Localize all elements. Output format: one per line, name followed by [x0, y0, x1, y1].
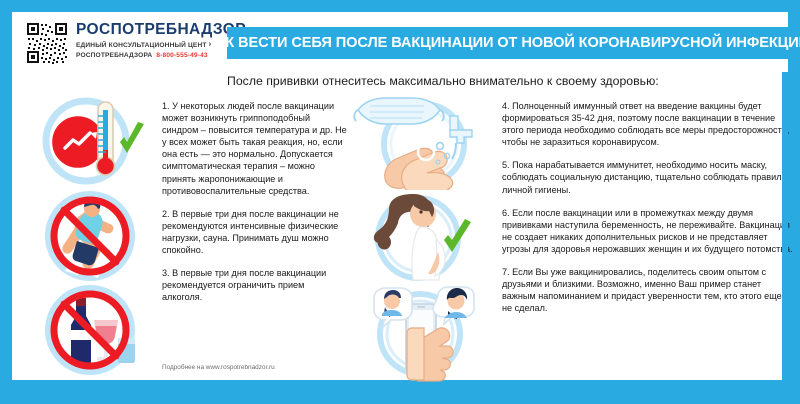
right-accent-bar: [782, 72, 788, 380]
pregnant-woman-icon: [352, 190, 492, 286]
list-item: 4. Полноценный иммунный ответ на введени…: [502, 100, 794, 148]
middle-icon-column: [352, 94, 494, 382]
no-alcohol-icon: [34, 284, 152, 379]
list-item: 3. В первые три дня после вакцинации рек…: [162, 267, 347, 303]
poster-inner-card: РОСПОТРЕБНАДЗОР ЕДИНЫЙ КОНСУЛЬТАЦИОННЫЙ …: [12, 12, 788, 380]
no-running-icon: [34, 189, 152, 284]
list-item: 1. У некоторых людей после вакцинации мо…: [162, 100, 347, 197]
share-experience-phone-icon: [352, 286, 492, 382]
brand-subtitle-line1: ЕДИНЫЙ КОНСУЛЬТАЦИОННЫЙ ЦЕНТР: [76, 42, 211, 49]
page-title: КАК ВЕСТИ СЕБЯ ПОСЛЕ ВАКЦИНАЦИИ ОТ НОВОЙ…: [206, 35, 800, 51]
poster-subtitle: После прививки отнеситесь максимально вн…: [227, 74, 659, 88]
brand-subtitle-line2-text: РОСПОТРЕБНАДЗОРА: [76, 52, 152, 59]
poster-root: РОСПОТРЕБНАДЗОР ЕДИНЫЙ КОНСУЛЬТАЦИОННЫЙ …: [0, 0, 800, 404]
thermometer-fever-icon: [34, 94, 152, 189]
list-item: 2. В первые три дня после вакцинации не …: [162, 208, 347, 256]
mask-handwash-icon: [352, 94, 492, 190]
brand-block: РОСПОТРЕБНАДЗОР ЕДИНЫЙ КОНСУЛЬТАЦИОННЫЙ …: [26, 20, 226, 68]
right-text-column: 4. Полноценный иммунный ответ на введени…: [502, 100, 794, 325]
hotline-phone-number[interactable]: 8-800-555-49-43: [156, 52, 207, 59]
footnote-website[interactable]: Подробнее на www.rospotrebnadzor.ru: [162, 364, 275, 371]
qr-code-icon: [26, 22, 68, 64]
list-item: 5. Пока нарабатывается иммунитет, необхо…: [502, 159, 794, 195]
poster-title-bar: КАК ВЕСТИ СЕБЯ ПОСЛЕ ВАКЦИНАЦИИ ОТ НОВОЙ…: [227, 27, 788, 59]
left-icon-column: [34, 94, 156, 379]
brand-subtitle-line2: РОСПОТРЕБНАДЗОРА8-800-555-49-43: [76, 52, 208, 59]
left-text-column: 1. У некоторых людей после вакцинации мо…: [162, 100, 347, 314]
poster-header: РОСПОТРЕБНАДЗОР ЕДИНЫЙ КОНСУЛЬТАЦИОННЫЙ …: [12, 12, 788, 72]
list-item: 6. Если после вакцинации или в промежутк…: [502, 207, 794, 255]
list-item: 7. Если Вы уже вакцинировались, поделите…: [502, 266, 794, 314]
